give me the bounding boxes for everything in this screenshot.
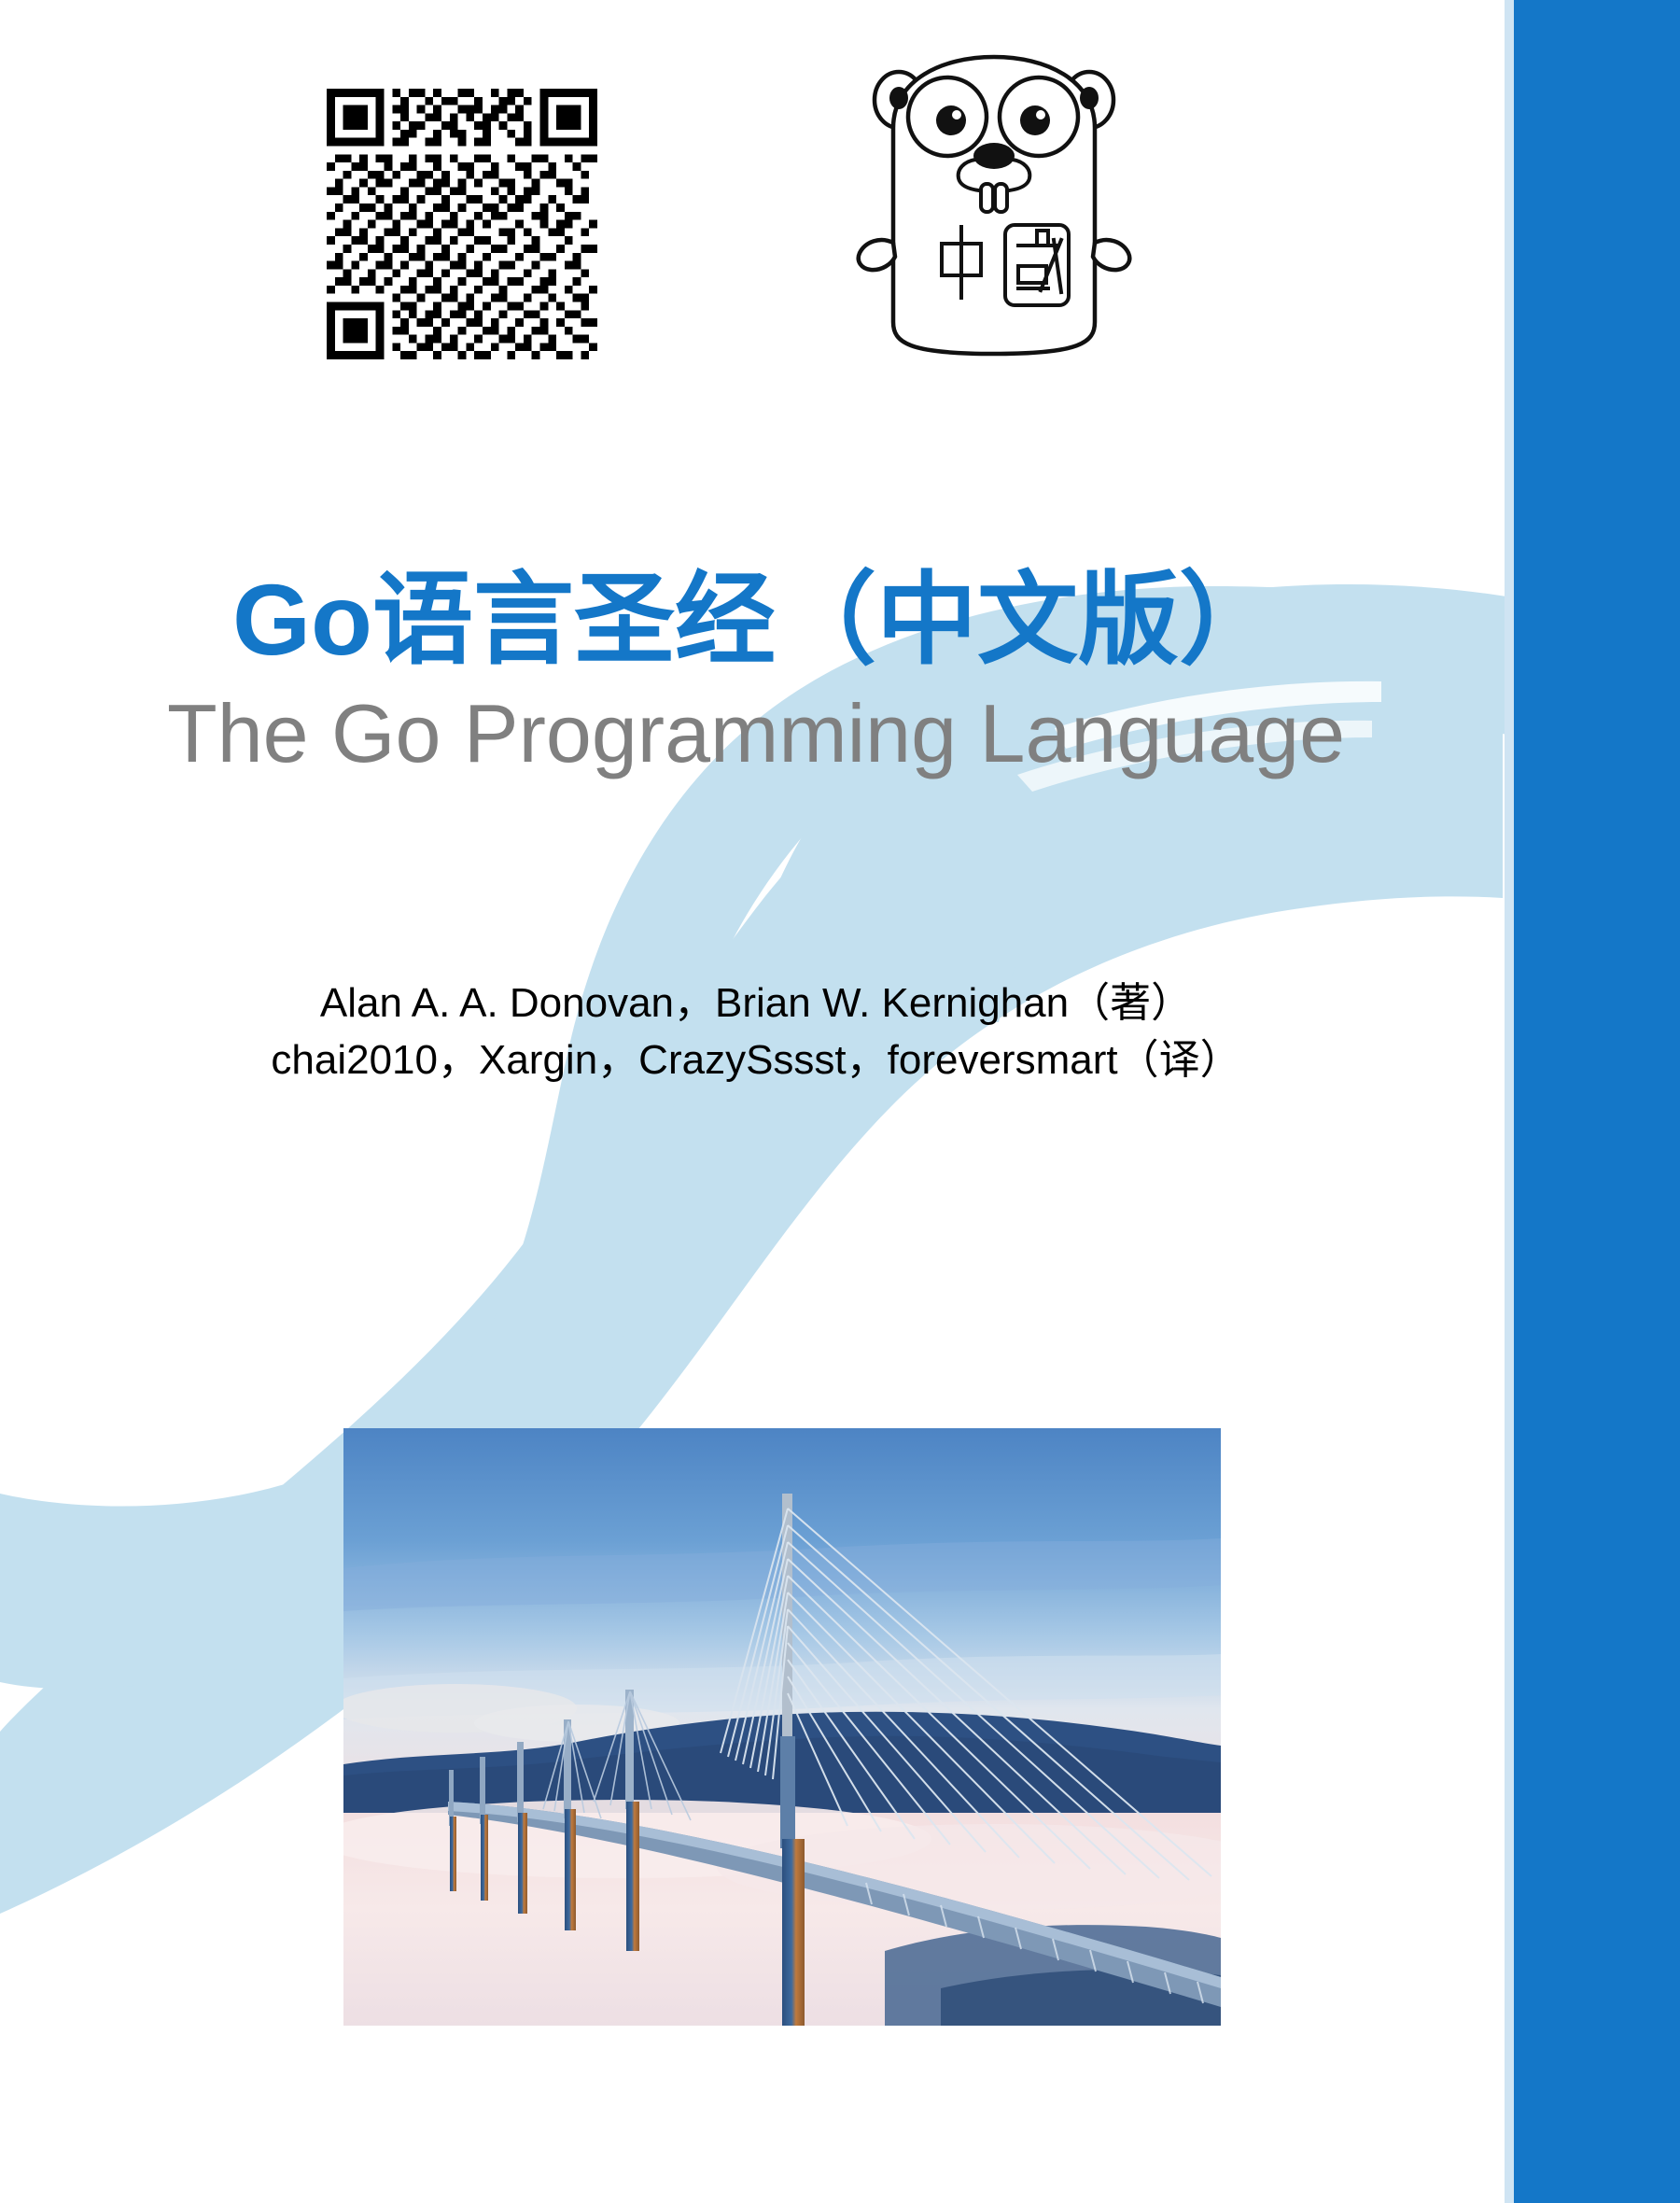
translators-line: chai2010，Xargin，CrazySssst，foreversmart（… bbox=[0, 1032, 1512, 1089]
go-gopher-mascot-icon bbox=[845, 42, 1143, 369]
title-block: Go语言圣经（中文版） The Go Programming Language bbox=[0, 560, 1512, 783]
page-title: Go语言圣经（中文版） bbox=[0, 560, 1512, 679]
book-cover: Go语言圣经（中文版） The Go Programming Language … bbox=[0, 0, 1680, 2203]
authors-line: Alan A. A. Donovan，Brian W. Kernighan（著） bbox=[0, 975, 1512, 1032]
cover-photo-millau-viaduct bbox=[343, 1428, 1221, 2026]
authors-block: Alan A. A. Donovan，Brian W. Kernighan（著）… bbox=[0, 975, 1512, 1088]
page-subtitle: The Go Programming Language bbox=[0, 684, 1512, 783]
qr-code-icon bbox=[327, 89, 597, 359]
github-side-banner[interactable]: http://github.com/golang-china/gopl-zh bbox=[1514, 0, 1680, 2203]
banner-edge-highlight bbox=[1505, 0, 1514, 2203]
